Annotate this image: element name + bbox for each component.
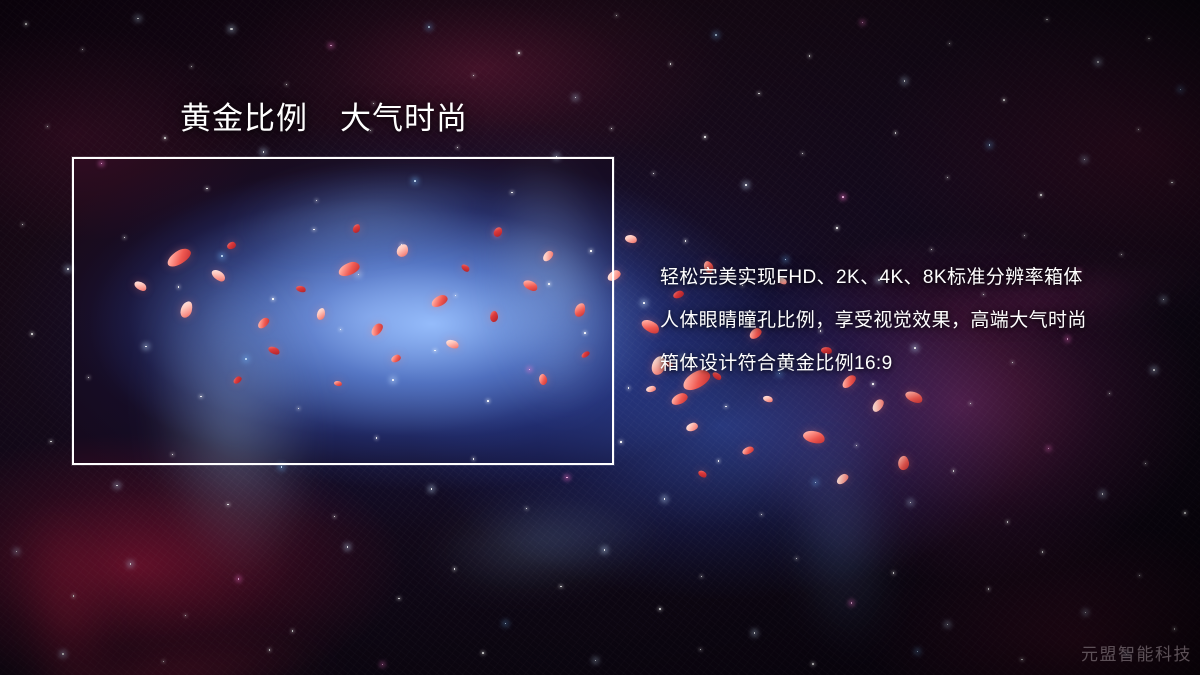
frame-nebula-base xyxy=(74,159,612,463)
petal xyxy=(133,279,148,293)
petal xyxy=(179,300,194,319)
petal xyxy=(296,285,308,294)
frame-content xyxy=(74,159,612,463)
petal xyxy=(580,350,590,358)
petal xyxy=(337,259,362,277)
petal xyxy=(430,293,450,309)
body-line-3: 箱体设计符合黄金比例16:9 xyxy=(660,342,1180,385)
petal xyxy=(522,278,539,294)
petal xyxy=(606,269,612,283)
brand-watermark: 元盟智能科技 xyxy=(1081,640,1192,665)
petal xyxy=(368,322,384,338)
page-title: 黄金比例 大气时尚 xyxy=(180,102,468,136)
petal xyxy=(210,267,227,284)
petal xyxy=(164,246,193,270)
petal xyxy=(333,380,342,387)
product-image-frame[interactable] xyxy=(72,157,614,465)
frame-nebula-wisp xyxy=(74,159,612,463)
petal xyxy=(390,354,402,363)
petal xyxy=(445,337,460,350)
petal xyxy=(541,250,555,264)
frame-galaxy-image xyxy=(74,159,612,463)
petal xyxy=(232,375,243,385)
petal xyxy=(352,223,361,233)
presentation-slide: 黄金比例 大气时尚 轻松完美实现FHD、2K、4K、8K标准分辨率箱体 人体眼睛… xyxy=(0,0,1200,675)
body-line-1: 轻松完美实现FHD、2K、4K、8K标准分辨率箱体 xyxy=(660,256,1180,299)
petal xyxy=(226,241,236,249)
frame-starfield xyxy=(74,159,612,463)
body-text-block: 轻松完美实现FHD、2K、4K、8K标准分辨率箱体 人体眼睛瞳孔比例，享受视觉效… xyxy=(660,256,1180,385)
petal xyxy=(256,316,271,330)
petal xyxy=(267,344,281,356)
petal xyxy=(573,302,586,318)
petal xyxy=(537,373,548,386)
petal xyxy=(460,262,470,273)
body-line-2: 人体眼睛瞳孔比例，享受视觉效果，高端大气时尚 xyxy=(660,299,1180,342)
petal xyxy=(493,227,503,239)
petal xyxy=(316,308,325,321)
petal xyxy=(396,243,409,258)
petal xyxy=(489,311,498,323)
